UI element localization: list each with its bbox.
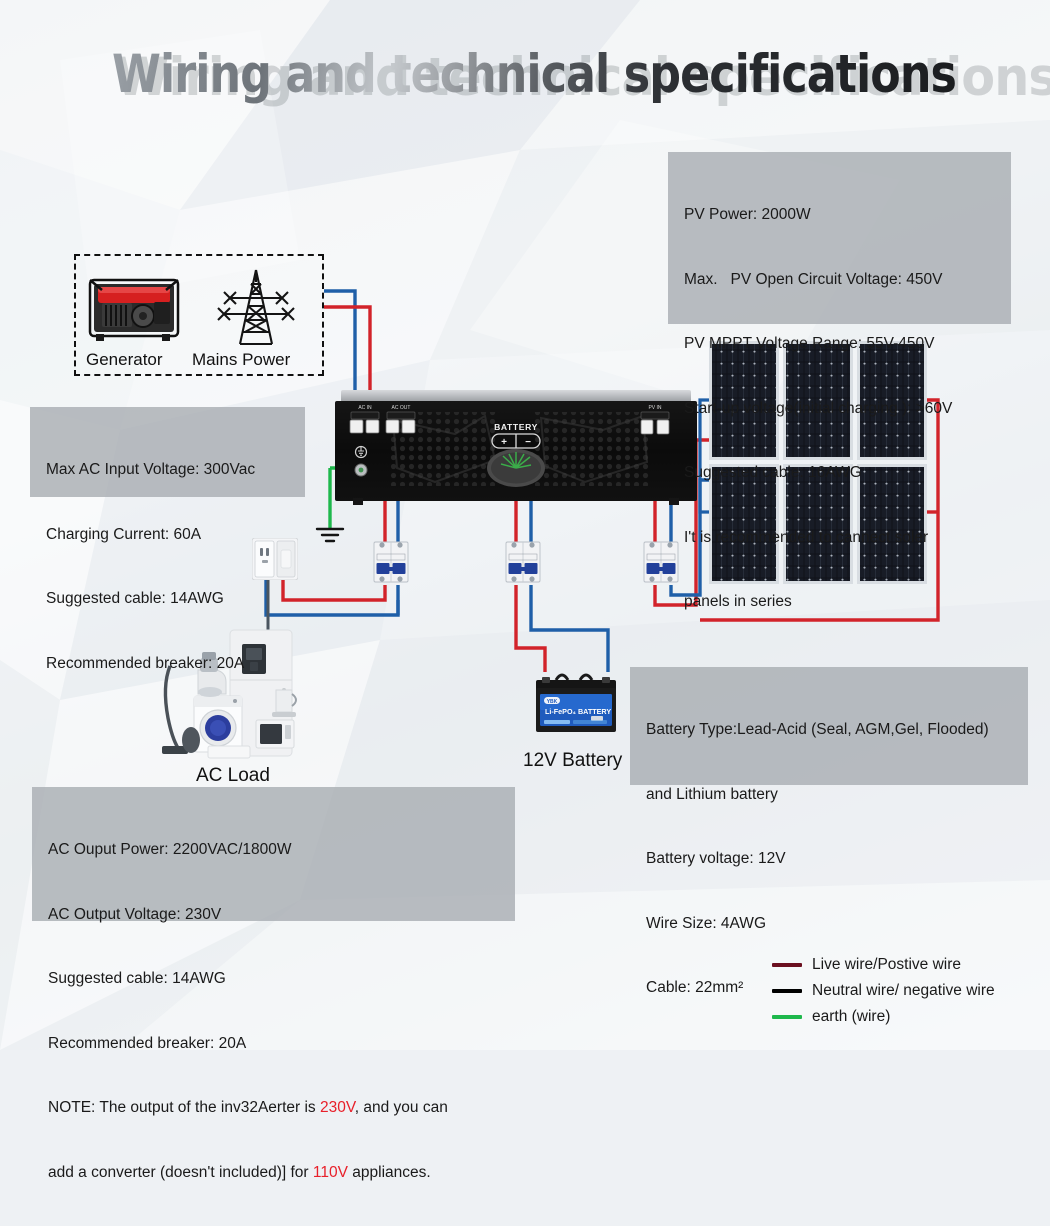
- svg-text:PV IN: PV IN: [648, 405, 661, 411]
- ac-output-spec-line: Suggested cable: 14AWG: [48, 968, 501, 990]
- svg-text:AC IN: AC IN: [358, 405, 372, 411]
- ac-input-spec-line: Recommended breaker: 20A: [46, 653, 291, 675]
- battery-spec-line: Wire Size: 4AWG: [646, 913, 1014, 935]
- legend-label-live: Live wire/Postive wire: [812, 956, 961, 974]
- battery-spec-box: Battery Type:Lead-Acid (Seal, AGM,Gel, F…: [630, 667, 1028, 785]
- battery-spec-line: Battery Type:Lead-Acid (Seal, AGM,Gel, F…: [646, 719, 1014, 741]
- ac-output-spec-line: AC Ouput Power: 2200VAC/1800W: [48, 839, 501, 861]
- pv-spec-line: PV MPPT Voltage Range: 55V-450V: [684, 333, 997, 355]
- ac-output-spec-box: AC Ouput Power: 2200VAC/1800W AC Output …: [32, 787, 515, 921]
- ac-output-spec-line: AC Output Voltage: 230V: [48, 904, 501, 926]
- ac-input-spec-line: Charging Current: 60A: [46, 524, 291, 546]
- pv-spec-line: I't is recommended to cannect soler: [684, 527, 997, 549]
- ac-load-label: AC Load: [196, 765, 270, 787]
- ac-input-spec-line: Max AC Input Voltage: 300Vac: [46, 459, 291, 481]
- note-prefix: NOTE: The output of the inv32Aerter is: [48, 1099, 320, 1116]
- page-title: Wiring and technical specifications: [112, 44, 956, 105]
- mains-power-label: Mains Power: [192, 350, 290, 370]
- svg-text:+: +: [501, 437, 507, 448]
- earth-ground-icon: [312, 524, 348, 550]
- battery-unit: YBK Li-FePO₄ BATTERY: [528, 672, 624, 738]
- breaker-pv[interactable]: [641, 537, 681, 587]
- legend-item-live: Live wire/Postive wire: [772, 952, 1042, 978]
- battery-spec-line: and Lithium battery: [646, 784, 1014, 806]
- battery-label: 12V Battery: [523, 750, 622, 772]
- pv-spec-line: Suggested cable: 16AWG: [684, 462, 997, 484]
- generator-label: Generator: [86, 350, 163, 370]
- pv-spec-box: PV Power: 2000W Max. PV Open Circuit Vol…: [668, 152, 1011, 324]
- legend-item-neutral: Neutral wire/ negative wire: [772, 978, 1042, 1004]
- legend-label-neutral: Neutral wire/ negative wire: [812, 982, 995, 1000]
- legend-swatch-earth-icon: [772, 1015, 802, 1019]
- pv-spec-line: Start-up voltage(initial charging ): >60…: [684, 398, 997, 420]
- svg-text:YBK: YBK: [547, 699, 558, 705]
- pv-spec-line: PV Power: 2000W: [684, 204, 997, 226]
- breaker-battery[interactable]: [503, 537, 543, 587]
- wire-legend: Live wire/Postive wire Neutral wire/ neg…: [772, 952, 1042, 1030]
- ac-output-spec-line: Recommended breaker: 20A: [48, 1033, 501, 1055]
- note-line2-prefix: add a converter (doesn't included)] for: [48, 1164, 313, 1181]
- diagram-canvas: Wiring and technical specifications Wiri…: [0, 0, 1050, 1050]
- legend-swatch-neutral-icon: [772, 989, 802, 993]
- battery-spec-line: Battery voltage: 12V: [646, 848, 1014, 870]
- ac-input-spec-line: Suggested cable: 14AWG: [46, 588, 291, 610]
- legend-label-earth: earth (wire): [812, 1008, 890, 1026]
- ac-output-note-line-1: NOTE: The output of the inv32Aerter is 2…: [48, 1097, 501, 1119]
- note-line2-suffix: appliances.: [348, 1164, 431, 1181]
- ac-input-spec-box: Max AC Input Voltage: 300Vac Charging Cu…: [30, 407, 305, 497]
- note-middle: , and you can: [355, 1099, 448, 1116]
- legend-item-earth: earth (wire): [772, 1004, 1042, 1030]
- pv-spec-line: panels in series: [684, 591, 997, 613]
- mains-power-pylon-icon: [210, 268, 302, 346]
- breaker-ac-output[interactable]: [371, 537, 411, 587]
- note-voltage-230v: 230V: [320, 1099, 355, 1116]
- ac-output-note-line-2: add a converter (doesn't included)] for …: [48, 1162, 501, 1184]
- generator-icon: [88, 272, 180, 344]
- pv-spec-line: Max. PV Open Circuit Voltage: 450V: [684, 269, 997, 291]
- svg-text:Li-FePO₄ BATTERY: Li-FePO₄ BATTERY: [545, 707, 611, 716]
- svg-text:BATTERY: BATTERY: [494, 422, 538, 432]
- inverter-unit[interactable]: AC IN AC OUT BATTERY + − PV IN: [335, 390, 697, 512]
- svg-text:AC OUT: AC OUT: [392, 405, 411, 411]
- legend-swatch-live-icon: [772, 963, 802, 967]
- note-voltage-110v: 110V: [313, 1164, 348, 1181]
- svg-text:−: −: [525, 437, 531, 448]
